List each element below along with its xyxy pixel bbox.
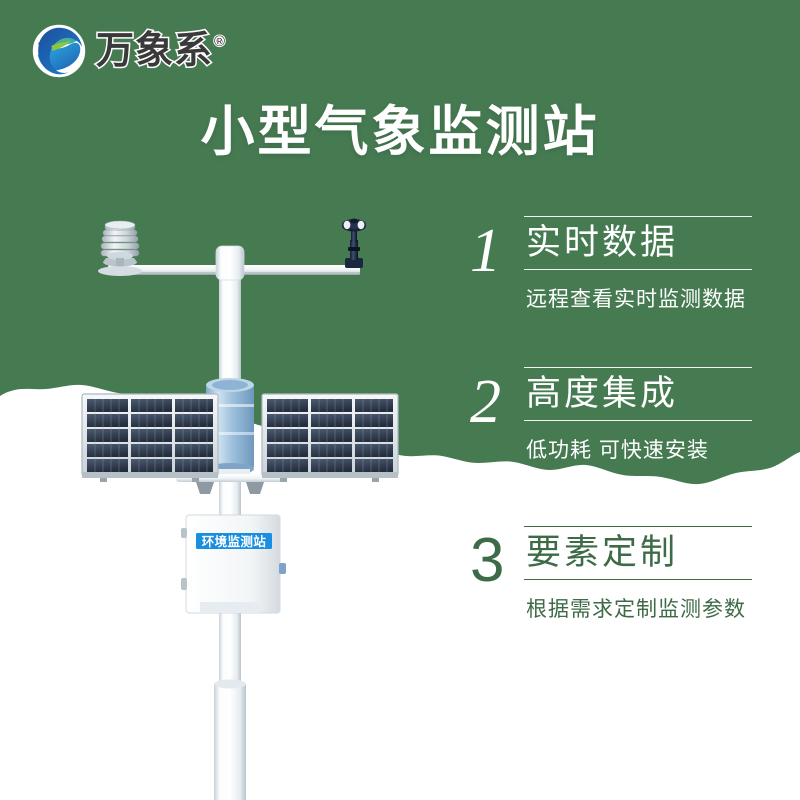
radiation-shield-sensor [98,221,142,276]
feature-number-1: 1 [470,220,524,282]
poster-canvas: 万象系 ® 小型气象监测站 [0,0,800,800]
weather-station-illustration: 环境监测站 [0,0,440,800]
control-cabinet: 环境监测站 [181,515,286,613]
feature-item-1: 1 实时数据 远程查看实时监测数据 [470,216,752,313]
feature-rule-bottom-2 [524,420,752,421]
crossarm [108,246,360,280]
feature-rule-bottom-1 [524,269,752,270]
ultrasonic-wind-sensor [342,219,366,268]
feature-item-3: 3 要素定制 根据需求定制监测参数 [470,526,752,623]
feature-subtitle-1: 远程查看实时监测数据 [524,283,752,313]
feature-rule-bottom-3 [524,579,752,580]
cabinet-nameplate: 环境监测站 [196,533,272,549]
feature-heading-3: 要素定制 [524,527,752,579]
feature-heading-2: 高度集成 [524,368,752,420]
feature-subtitle-2: 低功耗 可快速安装 [524,434,752,464]
solar-panel-right [262,394,398,482]
feature-number-3: 3 [470,530,524,592]
solar-panel-left [82,394,218,482]
cabinet-label: 环境监测站 [202,534,267,549]
feature-subtitle-3: 根据需求定制监测参数 [524,593,752,623]
feature-item-2: 2 高度集成 低功耗 可快速安装 [470,367,752,464]
feature-number-2: 2 [470,371,524,433]
feature-heading-1: 实时数据 [524,217,752,269]
